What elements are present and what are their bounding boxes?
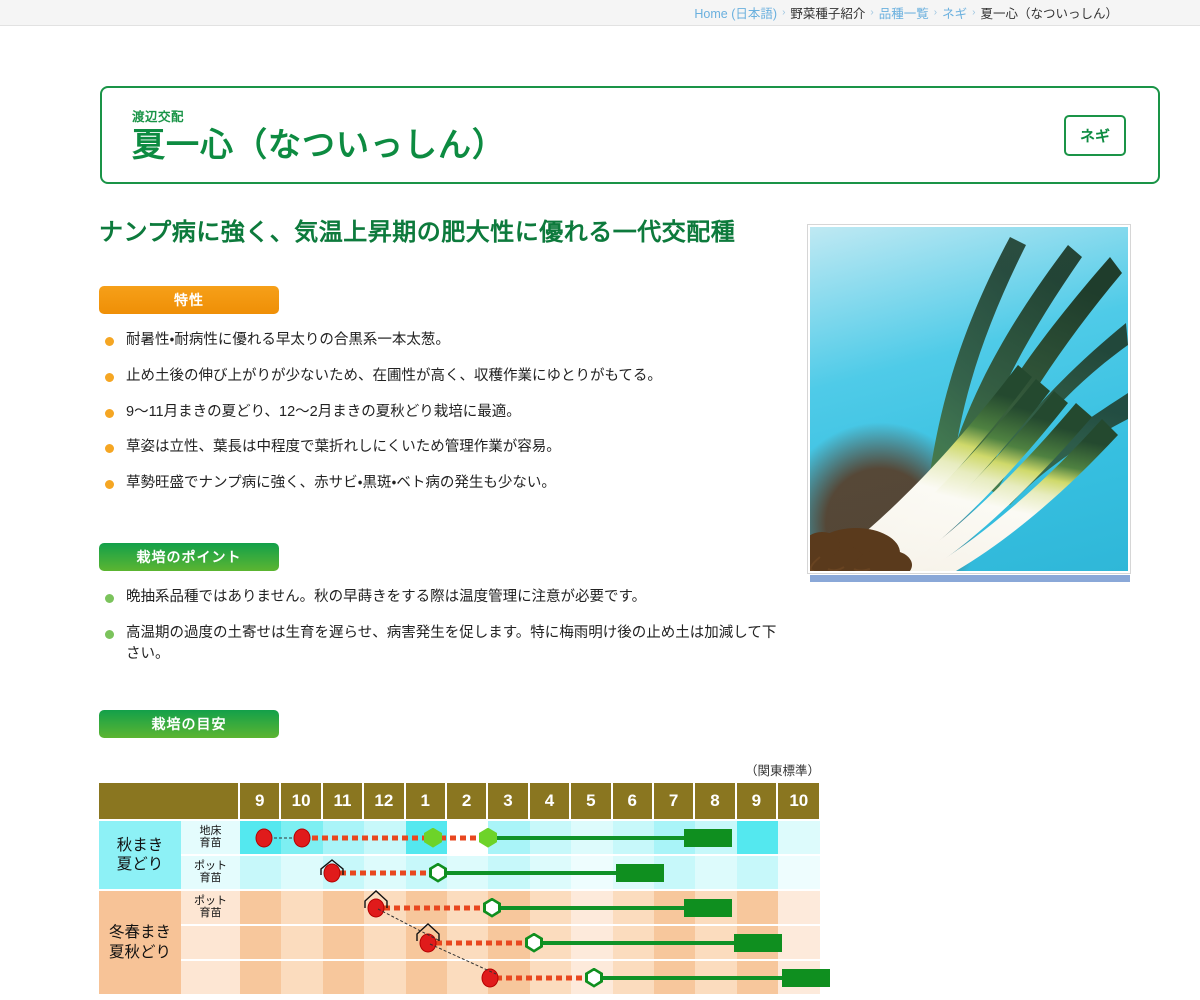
growth-period-line (488, 836, 684, 840)
calendar-row-label (181, 926, 240, 959)
breadcrumb-separator-icon: › (782, 7, 785, 18)
list-item: 草勢旺盛でナンプ病に強く、赤サビ・黒斑・ベト病の発生も少ない。 (99, 473, 789, 495)
seeding-marker-icon (294, 828, 311, 847)
breadcrumb-item-variety-list[interactable]: 品種一覧 (879, 3, 929, 22)
product-photo-column (807, 224, 1131, 574)
calendar-month-header: 7 (654, 783, 695, 819)
page-title: 夏一心（なついっしん） (132, 127, 1064, 163)
nursery-period-bar (440, 835, 482, 840)
list-item: 高温期の過度の土寄せは生育を遅らせ、病害発生を促します。特に梅雨明け後の止め土は… (99, 623, 789, 667)
calendar-group-label-text: 秋まき 夏どり (117, 836, 164, 875)
section-heading-points: 栽培のポイント (99, 543, 279, 571)
seeding-marker-icon (256, 828, 273, 847)
house-icon (319, 858, 345, 876)
table-row: ポット 育苗 (181, 889, 820, 924)
calendar-group-winter: 冬春まき 夏秋どり ポット 育苗 (99, 889, 820, 994)
breadcrumb-separator-icon: › (870, 7, 873, 18)
calendar-region-note: （関東標準） (99, 760, 820, 779)
calendar-month-header: 3 (488, 783, 529, 819)
calendar-month-header: 8 (695, 783, 736, 819)
list-item: 草姿は立性、葉長は中程度で葉折れしにくいため管理作業が容易。 (99, 437, 789, 459)
section-heading-calendar: 栽培の目安 (99, 710, 279, 738)
calendar-header-row: 9 10 11 12 1 2 3 4 5 6 7 8 9 10 (99, 783, 820, 819)
calendar-track (240, 961, 820, 994)
seeding-marker-icon (482, 968, 499, 987)
product-photo-frame (807, 224, 1131, 574)
calendar-row-label (181, 961, 240, 994)
list-item: 晩抽系品種ではありません。秋の早蒔きをする際は温度管理に注意が必要です。 (99, 587, 789, 609)
photo-underline (810, 575, 1130, 582)
house-icon (415, 922, 441, 942)
table-row (181, 959, 820, 994)
growth-period-line (492, 906, 684, 910)
product-title-texts: 渡辺交配 夏一心（なついっしん） (102, 106, 1064, 163)
list-item: 耐暑性・耐病性に優れる早太りの合黒系一本太葱。 (99, 330, 789, 352)
calendar-track (240, 821, 820, 854)
breadcrumb-item-negi[interactable]: ネギ (942, 3, 967, 22)
calendar-month-header: 11 (323, 783, 364, 819)
harvest-period-bar (684, 829, 732, 847)
lead-headline: ナンプ病に強く、気温上昇期の肥大性に優れる一代交配種 (99, 216, 789, 250)
product-photo (810, 227, 1128, 571)
calendar-body: 秋まき 夏どり 地床 育苗 (99, 819, 820, 994)
nursery-period-bar (384, 905, 488, 910)
points-list: 晩抽系品種ではありません。秋の早蒔きをする際は温度管理に注意が必要です。 高温期… (99, 587, 789, 666)
growth-period-line (438, 871, 616, 875)
growth-period-line (534, 941, 734, 945)
harvest-period-bar (782, 969, 830, 987)
calendar-group-autumn: 秋まき 夏どり 地床 育苗 (99, 819, 820, 889)
calendar-group-label-text: 冬春まき 夏秋どり (109, 923, 171, 962)
list-item: 止め土後の伸び上がりが少ないため、在圃性が高く、収穫作業にゆとりがもてる。 (99, 366, 789, 388)
calendar-month-header: 6 (613, 783, 654, 819)
calendar-group-label: 冬春まき 夏秋どり (99, 889, 181, 994)
category-badge[interactable]: ネギ (1064, 115, 1126, 156)
calendar-month-header: 10 (778, 783, 819, 819)
calendar-row-label-text: 地床 育苗 (200, 826, 222, 849)
calendar-track (240, 891, 820, 924)
calendar-month-header: 1 (406, 783, 447, 819)
calendar-month-header: 5 (571, 783, 612, 819)
calendar-row-label: ポット 育苗 (181, 856, 240, 889)
nursery-period-bar (340, 870, 434, 875)
product-detail-column: ナンプ病に強く、気温上昇期の肥大性に優れる一代交配種 特性 耐暑性・耐病性に優れ… (99, 216, 789, 1000)
list-item: 9〜11月まきの夏どり、12〜2月まきの夏秋どり栽培に最適。 (99, 402, 789, 424)
breadcrumb-item-home[interactable]: Home (日本語) (694, 3, 777, 22)
nursery-period-bar (496, 975, 590, 980)
harvest-period-bar (734, 934, 782, 952)
breadcrumb-separator-icon: › (934, 7, 937, 18)
calendar-header-blank (99, 783, 240, 819)
table-row (181, 924, 820, 959)
table-row: ポット 育苗 (181, 854, 820, 889)
harvest-period-bar (684, 899, 732, 917)
harvest-period-bar (616, 864, 664, 882)
calendar-month-header: 10 (281, 783, 322, 819)
calendar-month-header: 4 (530, 783, 571, 819)
calendar-row-label: 地床 育苗 (181, 821, 240, 854)
leek-illustration-icon (810, 227, 1128, 571)
breadcrumb-separator-icon: › (972, 7, 975, 18)
calendar-month-header: 2 (447, 783, 488, 819)
nursery-period-bar (302, 835, 424, 840)
growth-period-line (594, 976, 782, 980)
breadcrumb: Home (日本語) › 野菜種子紹介 › 品種一覧 › ネギ › 夏一心（なつ… (0, 0, 1200, 26)
calendar-row-label-text: ポット 育苗 (194, 896, 227, 919)
calendar-track (240, 856, 820, 889)
features-list: 耐暑性・耐病性に優れる早太りの合黒系一本太葱。 止め土後の伸び上がりが少ないため… (99, 330, 789, 495)
house-icon (363, 889, 389, 909)
section-heading-features: 特性 (99, 286, 279, 314)
product-title-card: 渡辺交配 夏一心（なついっしん） ネギ (100, 86, 1160, 184)
calendar-group-label: 秋まき 夏どり (99, 819, 181, 889)
calendar-group-rows: ポット 育苗 (181, 889, 820, 994)
table-row: 地床 育苗 (181, 819, 820, 854)
breadcrumb-item-current: 夏一心（なついっしん） (980, 3, 1118, 22)
cultivation-calendar: 9 10 11 12 1 2 3 4 5 6 7 8 9 10 (99, 783, 820, 994)
nursery-period-bar (436, 940, 530, 945)
breadcrumb-item-vegetable-seeds: 野菜種子紹介 (790, 3, 865, 22)
calendar-track (240, 926, 820, 959)
calendar-row-label-text: ポット 育苗 (194, 861, 227, 884)
calendar-month-header: 9 (737, 783, 778, 819)
calendar-group-rows: 地床 育苗 (181, 819, 820, 889)
calendar-month-header: 12 (364, 783, 405, 819)
calendar-row-label: ポット 育苗 (181, 891, 240, 924)
brand-label: 渡辺交配 (132, 106, 1064, 125)
calendar-month-header: 9 (240, 783, 281, 819)
